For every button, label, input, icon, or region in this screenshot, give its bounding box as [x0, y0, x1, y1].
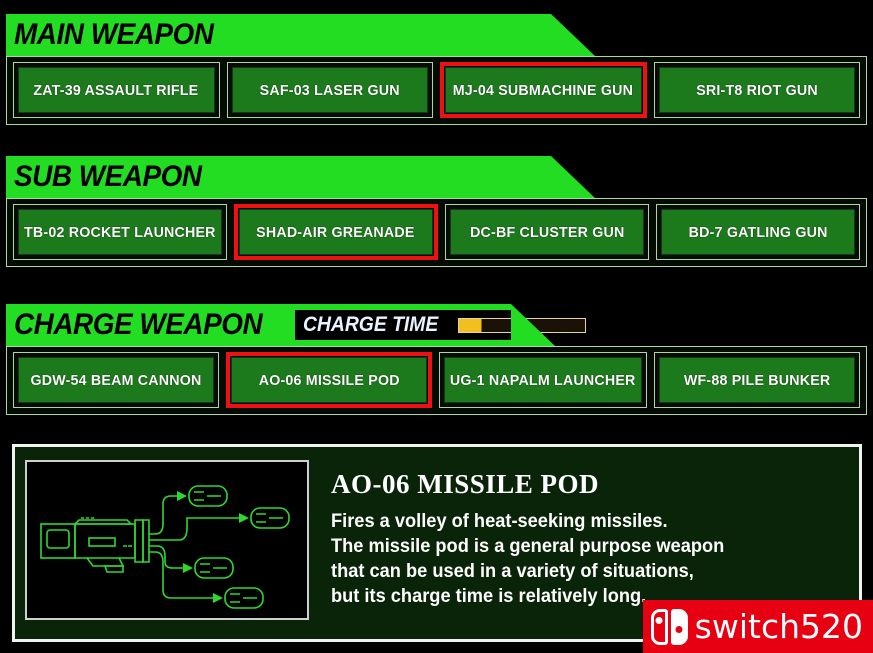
weapon-category-main-weapon: MAIN WEAPONZAT-39 ASSAULT RIFLESAF-03 LA… — [6, 14, 867, 125]
weapon-button-label: DC-BF CLUSTER GUN — [470, 224, 624, 241]
weapon-detail-description: Fires a volley of heat-seeking missiles.… — [331, 509, 859, 609]
weapon-button-label: SAF-03 LASER GUN — [260, 82, 400, 99]
weapon-category-charge-weapon: CHARGE WEAPONCHARGE TIMEGDW-54 BEAM CANN… — [6, 304, 867, 415]
category-title: CHARGE WEAPON — [14, 307, 262, 343]
weapon-button-label: SRI-T8 RIOT GUN — [696, 82, 818, 99]
weapon-button-label: TB-02 ROCKET LAUNCHER — [24, 224, 216, 241]
weapon-button[interactable]: BD-7 GATLING GUN — [656, 204, 860, 260]
weapon-button-label: ZAT-39 ASSAULT RIFLE — [34, 82, 199, 99]
banner-slant-edge — [551, 14, 595, 56]
weapon-button[interactable]: DC-BF CLUSTER GUN — [445, 204, 649, 260]
weapon-button[interactable]: GDW-54 BEAM CANNON — [13, 352, 219, 408]
weapon-button-label: GDW-54 BEAM CANNON — [31, 372, 202, 389]
banner-body: SUB WEAPON — [6, 156, 551, 198]
weapon-category-sub-weapon: SUB WEAPONTB-02 ROCKET LAUNCHERSHAD-AIR … — [6, 156, 867, 267]
weapon-button[interactable]: TB-02 ROCKET LAUNCHER — [13, 204, 227, 260]
weapon-button-label: AO-06 MISSILE POD — [259, 372, 400, 389]
weapon-row: ZAT-39 ASSAULT RIFLESAF-03 LASER GUNMJ-0… — [6, 56, 867, 125]
weapon-button[interactable]: SAF-03 LASER GUN — [227, 62, 434, 118]
category-banner: CHARGE WEAPONCHARGE TIME — [6, 304, 867, 346]
weapon-button-face: GDW-54 BEAM CANNON — [18, 357, 214, 403]
weapon-button[interactable]: UG-1 NAPALM LAUNCHER — [439, 352, 646, 408]
category-title: MAIN WEAPON — [14, 17, 213, 53]
weapon-button-face: WF-88 PILE BUNKER — [659, 357, 855, 403]
weapon-description-line: The missile pod is a general purpose wea… — [331, 534, 838, 559]
weapon-select-screen: MAIN WEAPONZAT-39 ASSAULT RIFLESAF-03 LA… — [0, 0, 873, 653]
weapon-button-label: SHAD-AIR GREANADE — [257, 224, 415, 241]
charge-time-bar-fill — [459, 319, 482, 332]
weapon-row: TB-02 ROCKET LAUNCHERSHAD-AIR GREANADEDC… — [6, 198, 867, 267]
charge-time-label: CHARGE TIME — [303, 313, 438, 337]
category-title: SUB WEAPON — [14, 159, 202, 195]
watermark-label: switch520 — [695, 609, 863, 645]
banner-body: MAIN WEAPON — [6, 14, 551, 56]
weapon-button-label: UG-1 NAPALM LAUNCHER — [450, 372, 636, 389]
weapon-button-face: SHAD-AIR GREANADE — [239, 209, 433, 255]
weapon-row: GDW-54 BEAM CANNONAO-06 MISSILE PODUG-1 … — [6, 346, 867, 415]
weapon-button-face: MJ-04 SUBMACHINE GUN — [445, 67, 642, 113]
weapon-button-face: AO-06 MISSILE POD — [231, 357, 427, 403]
switch520-watermark: switch520 — [643, 600, 873, 653]
weapon-button-face: BD-7 GATLING GUN — [661, 209, 855, 255]
banner-slant-edge — [551, 156, 595, 198]
weapon-button-face: SAF-03 LASER GUN — [232, 67, 429, 113]
weapon-description-line: Fires a volley of heat-seeking missiles. — [331, 509, 838, 534]
weapon-button-face: TB-02 ROCKET LAUNCHER — [18, 209, 222, 255]
nintendo-switch-joycons-icon — [651, 609, 688, 645]
weapon-detail-title: AO-06 MISSILE POD — [331, 469, 859, 499]
weapon-button-selected[interactable]: AO-06 MISSILE POD — [226, 352, 432, 408]
weapon-button-face: DC-BF CLUSTER GUN — [450, 209, 644, 255]
category-banner: MAIN WEAPON — [6, 14, 867, 56]
weapon-button-label: BD-7 GATLING GUN — [688, 224, 827, 241]
category-banner: SUB WEAPON — [6, 156, 867, 198]
weapon-button[interactable]: SRI-T8 RIOT GUN — [654, 62, 861, 118]
weapon-button-face: ZAT-39 ASSAULT RIFLE — [18, 67, 215, 113]
weapon-button[interactable]: ZAT-39 ASSAULT RIFLE — [13, 62, 220, 118]
weapon-button-face: UG-1 NAPALM LAUNCHER — [444, 357, 641, 403]
weapon-description-line: that can be used in a variety of situati… — [331, 559, 838, 584]
charge-time-meter: CHARGE TIME — [295, 310, 592, 340]
weapon-button-label: WF-88 PILE BUNKER — [684, 372, 831, 389]
banner-body: CHARGE WEAPONCHARGE TIME — [6, 304, 511, 346]
weapon-button-selected[interactable]: SHAD-AIR GREANADE — [234, 204, 438, 260]
weapon-button[interactable]: WF-88 PILE BUNKER — [654, 352, 860, 408]
weapon-button-selected[interactable]: MJ-04 SUBMACHINE GUN — [440, 62, 647, 118]
weapon-button-label: MJ-04 SUBMACHINE GUN — [453, 82, 633, 99]
weapon-button-face: SRI-T8 RIOT GUN — [659, 67, 856, 113]
missile-pod-wireframe-diagram — [25, 460, 309, 620]
